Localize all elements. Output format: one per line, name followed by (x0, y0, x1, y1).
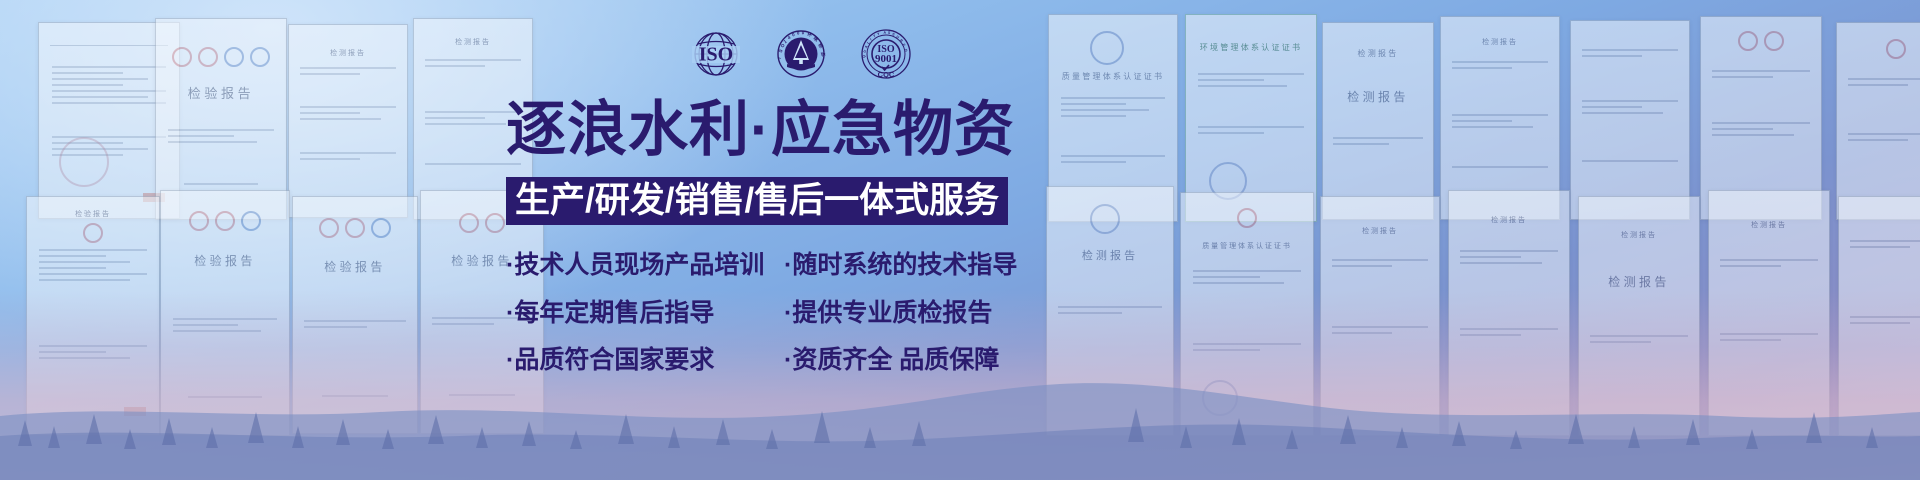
certificate-title: 检验报告 (161, 252, 289, 269)
svg-text:I: I (869, 38, 872, 42)
feature-item: ·随时系统的技术指导 (784, 252, 1076, 280)
svg-text:1: 1 (783, 39, 788, 45)
subtitle-band: 生产/研发/销售/售后一体式服务 (506, 177, 1008, 225)
feature-item: ·每年定期售后指导 (506, 300, 784, 328)
feature-item: ·品质符合国家要求 (506, 347, 784, 375)
svg-text:D: D (903, 48, 908, 52)
headline-block: 逐浪水利·应急物资 生产/研发/销售/售后一体式服务 ·技术人员现场产品培训 ·… (506, 100, 1076, 375)
svg-text:S: S (888, 31, 892, 35)
certificate-title: 检测报告 (414, 37, 532, 47)
cqc-label: CQC (878, 70, 895, 79)
certificate-title: 质量管理体系认证证书 (1181, 241, 1313, 251)
certificate-thumbnail: 环境管理体系认证证书 (1185, 14, 1317, 222)
certificate-thumbnail (1836, 22, 1920, 220)
certificate-thumbnail (1570, 20, 1690, 220)
certificate-thumbnail: 检测报告 (288, 24, 408, 218)
certificate-heading: 检测报告 (1323, 88, 1433, 105)
certificate-heading: 检测报告 (1579, 273, 1699, 290)
svg-text:I: I (777, 57, 782, 60)
svg-text:9001: 9001 (875, 53, 897, 65)
svg-text:0: 0 (791, 32, 795, 38)
svg-text:A: A (883, 31, 886, 35)
certificate-title: 检验报告 (27, 209, 159, 219)
promotional-banner: 检验报告 检测报告 检测报告 质量管理体系认证证书 环境管理体系认证证书 (0, 0, 1920, 480)
svg-text:Q: Q (862, 54, 867, 58)
svg-text:U: U (896, 35, 901, 40)
certificate-title: 检测报告 (1321, 226, 1439, 236)
iso-globe-icon: ISO (690, 30, 742, 83)
certificate-title: 检测报告 (1441, 37, 1559, 47)
iso9001-cqc-icon: ISO 9001 CQC Q U A L I T Y A S S U R (860, 28, 912, 85)
certificate-thumbnail: 检测报告 检测报告 (1322, 22, 1434, 220)
iso-badge-label: ISO (699, 44, 733, 66)
certificate-title: 检测报告 (1449, 215, 1569, 225)
certification-badge-group: ISO I S O 1 4 0 0 0 环 (690, 28, 912, 85)
feature-list: ·技术人员现场产品培训 ·随时系统的技术指导 ·每年定期售后指导 ·提供专业质检… (506, 252, 1076, 375)
certificate-title: 检验报告 (156, 83, 286, 102)
feature-item: ·资质齐全 品质保障 (784, 347, 1076, 375)
certificate-title: 环境管理体系认证证书 (1186, 42, 1316, 53)
feature-item: ·提供专业质检报告 (784, 300, 1076, 328)
banner-subtitle: 生产/研发/销售/售后一体式服务 (515, 183, 999, 218)
certificate-title: 检测报告 (1709, 220, 1829, 230)
svg-text:志: 志 (819, 51, 826, 58)
certificate-title: 检测报告 (1579, 230, 1699, 240)
feature-item: ·技术人员现场产品培训 (506, 252, 784, 280)
iso14000-environment-icon: I S O 1 4 0 0 0 环 境 标 志 (776, 29, 826, 84)
certificate-title: 检测报告 (289, 48, 407, 58)
certificate-title: 检测报告 (1323, 48, 1433, 59)
banner-title: 逐浪水利·应急物资 (506, 100, 1076, 160)
svg-text:4: 4 (787, 35, 792, 41)
certificate-title: 质量管理体系认证证书 (1049, 71, 1177, 82)
svg-text:Y: Y (877, 32, 881, 37)
svg-text:0: 0 (802, 30, 805, 35)
certificate-title: 检验报告 (293, 258, 417, 275)
